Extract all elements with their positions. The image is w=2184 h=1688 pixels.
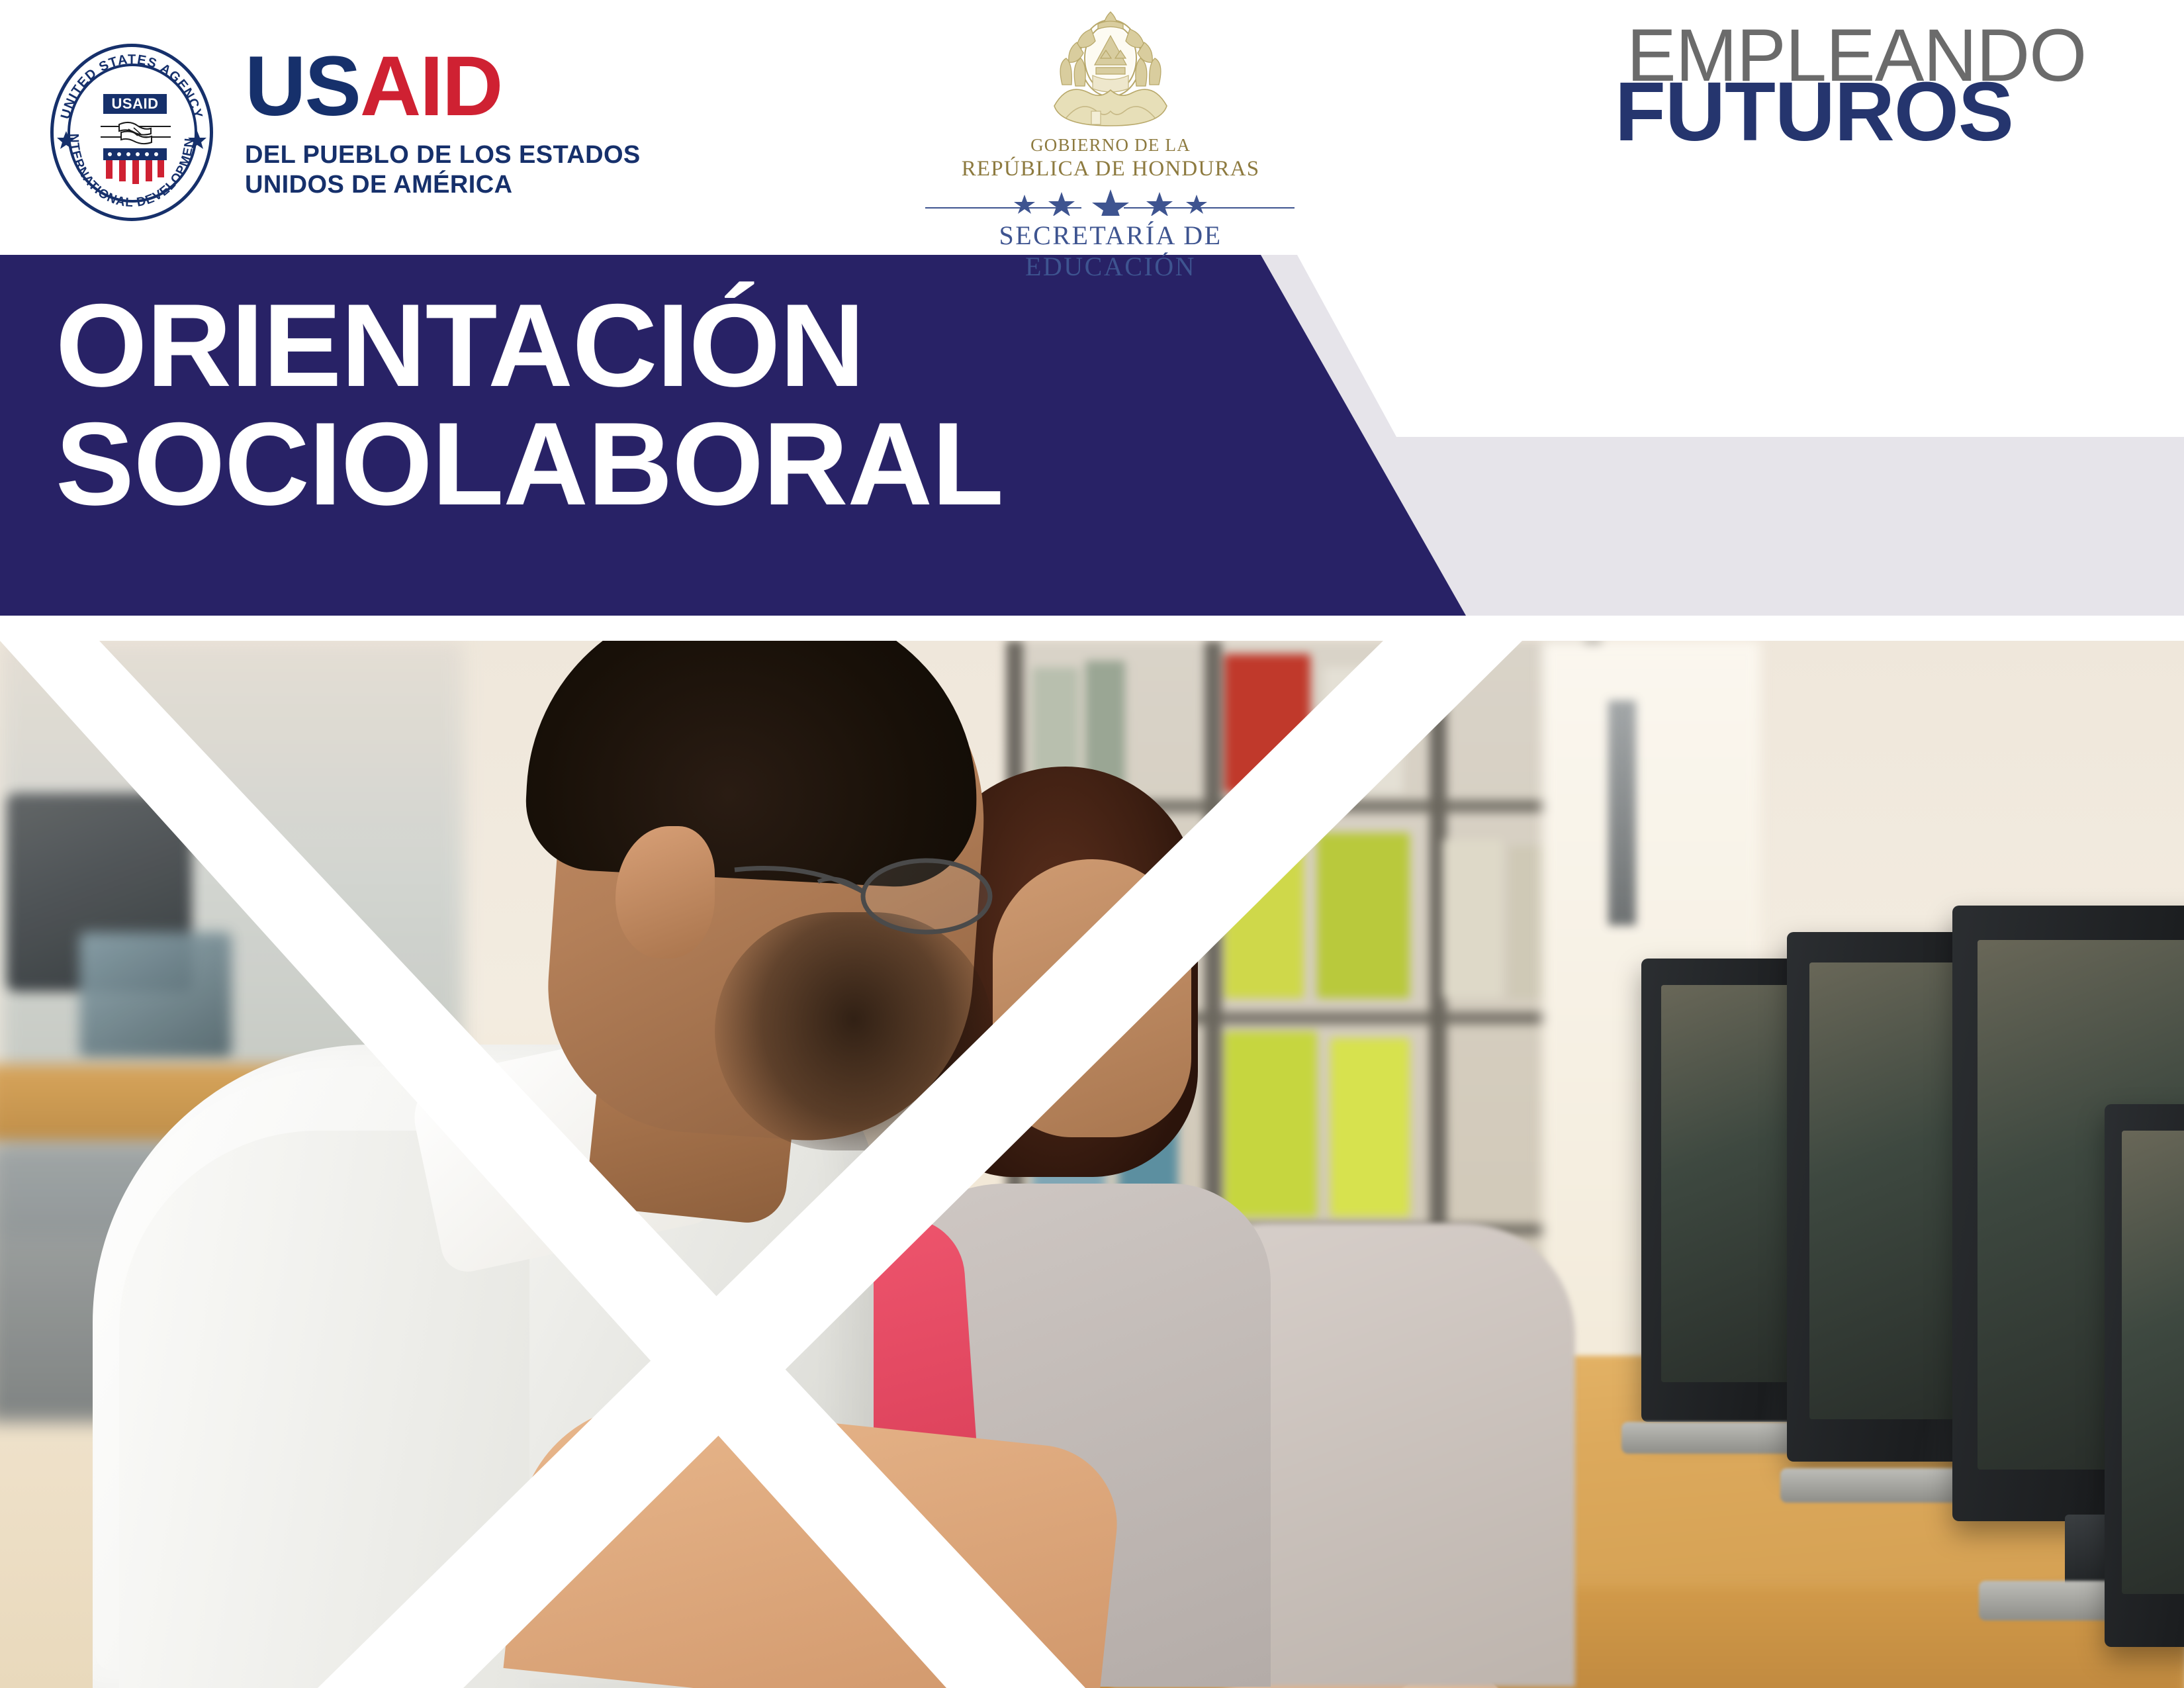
usaid-logo: UNITED STATES AGENCY INTERNATIONAL DEVEL…: [46, 34, 589, 226]
usaid-wordmark-aid: AID: [360, 39, 502, 134]
honduras-divider-left: [925, 207, 1081, 209]
honduras-coat-of-arms-icon: [1028, 7, 1193, 132]
five-stars-icon: [925, 189, 1296, 213]
page-title: ORIENTACIÓN SOCIOLABORAL: [56, 285, 1003, 525]
header-logos-bar: UNITED STATES AGENCY INTERNATIONAL DEVEL…: [0, 0, 2184, 255]
honduras-line1: GOBIERNO DE LA: [925, 135, 1296, 156]
diagonal-stripes-overlay: [0, 641, 2184, 1688]
computer-lab-students-photo: [0, 641, 2184, 1688]
usaid-wordmark-us: US: [245, 39, 360, 134]
page-title-line-2: SOCIOLABORAL: [56, 403, 1003, 524]
usaid-seal-chip-label: USAID: [103, 94, 167, 114]
secretaria-de-educacion-label: SECRETARÍA DE EDUCACIÓN: [925, 220, 1296, 282]
honduras-government-logo: GOBIERNO DE LA REPÚBLICA DE HONDURAS: [925, 7, 1296, 252]
futuros-label: FUTUROS: [1615, 70, 2013, 154]
shield-stars-icon: [103, 148, 167, 187]
usaid-seal-icon: UNITED STATES AGENCY INTERNATIONAL DEVEL…: [46, 41, 220, 225]
honduras-divider: [925, 207, 1296, 209]
honduras-line2: REPÚBLICA DE HONDURAS: [925, 157, 1296, 181]
handshake-icon: [99, 119, 172, 147]
usaid-tagline: DEL PUEBLO DE LOS ESTADOS UNIDOS DE AMÉR…: [245, 140, 615, 200]
honduras-divider-right: [1124, 207, 1295, 209]
usaid-tagline-line1: DEL PUEBLO DE LOS ESTADOS: [245, 140, 615, 170]
cover-page: UNITED STATES AGENCY INTERNATIONAL DEVEL…: [0, 0, 2184, 1688]
empleando-futuros-logo: EMPLEANDO FUTUROS: [1615, 19, 2158, 217]
page-title-line-1: ORIENTACIÓN: [56, 285, 1003, 406]
usaid-tagline-line2: UNIDOS DE AMÉRICA: [245, 170, 615, 200]
usaid-wordmark: USAID: [245, 46, 502, 127]
